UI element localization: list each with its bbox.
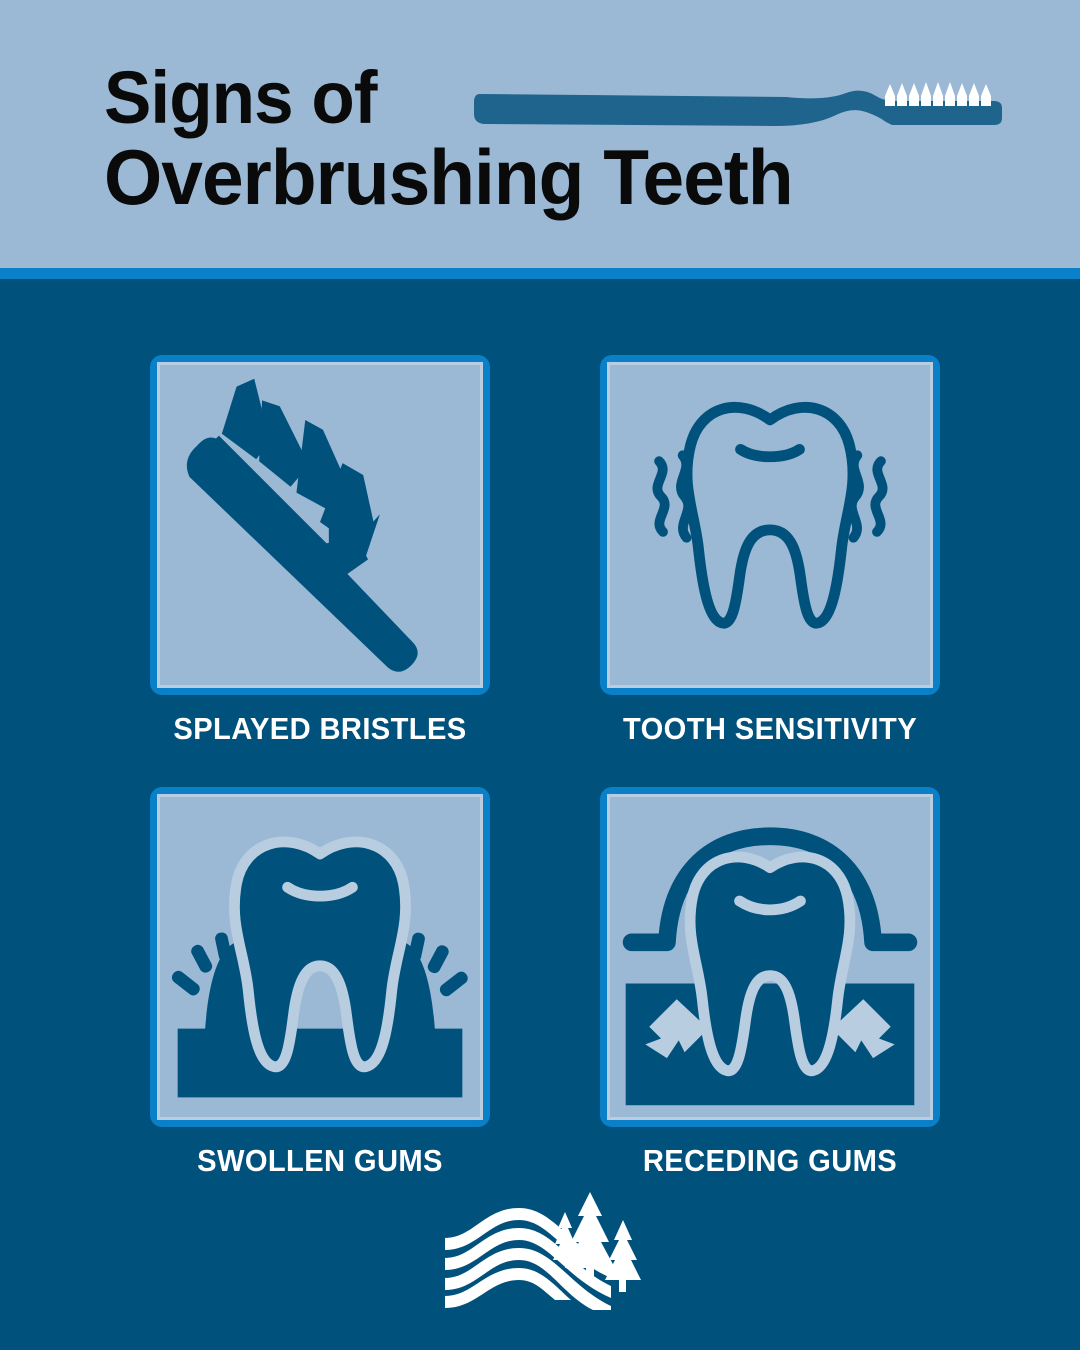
card-receding-gums[interactable]: RECEDING GUMS: [600, 787, 940, 1179]
card-label: SPLAYED BRISTLES: [160, 711, 480, 747]
hills-and-pines-logo: [415, 1190, 665, 1310]
grid-row-2: SWOLLEN GUMS: [0, 787, 1080, 1219]
splayed-toothbrush-icon: [160, 365, 480, 685]
card-tooth-sensitivity[interactable]: TOOTH SENSITIVITY: [600, 355, 940, 747]
card-label: RECEDING GUMS: [610, 1143, 930, 1179]
card-surface: [607, 362, 933, 688]
card-frame: [600, 787, 940, 1127]
card-swollen-gums[interactable]: SWOLLEN GUMS: [150, 787, 490, 1179]
tooth-vibration-icon: [610, 365, 930, 685]
card-frame: [600, 355, 940, 695]
signs-grid: SPLAYED BRISTLES: [0, 355, 1080, 1219]
card-surface: [157, 362, 483, 688]
toothbrush-icon: [474, 82, 1014, 144]
card-splayed-bristles[interactable]: SPLAYED BRISTLES: [150, 355, 490, 747]
receding-gums-tooth-icon: [610, 797, 930, 1117]
header-banner: Signs of Overbrushing Teeth: [0, 0, 1080, 268]
infographic-poster: Signs of Overbrushing Teeth: [0, 0, 1080, 1350]
header-divider: [0, 268, 1080, 279]
card-frame: [150, 787, 490, 1127]
card-surface: [607, 794, 933, 1120]
swollen-gums-tooth-icon: [160, 797, 480, 1117]
card-label: SWOLLEN GUMS: [160, 1143, 480, 1179]
card-frame: [150, 355, 490, 695]
title-line-2: Overbrushing Teeth: [104, 139, 968, 215]
grid-row-1: SPLAYED BRISTLES: [0, 355, 1080, 787]
card-label: TOOTH SENSITIVITY: [610, 711, 930, 747]
card-surface: [157, 794, 483, 1120]
